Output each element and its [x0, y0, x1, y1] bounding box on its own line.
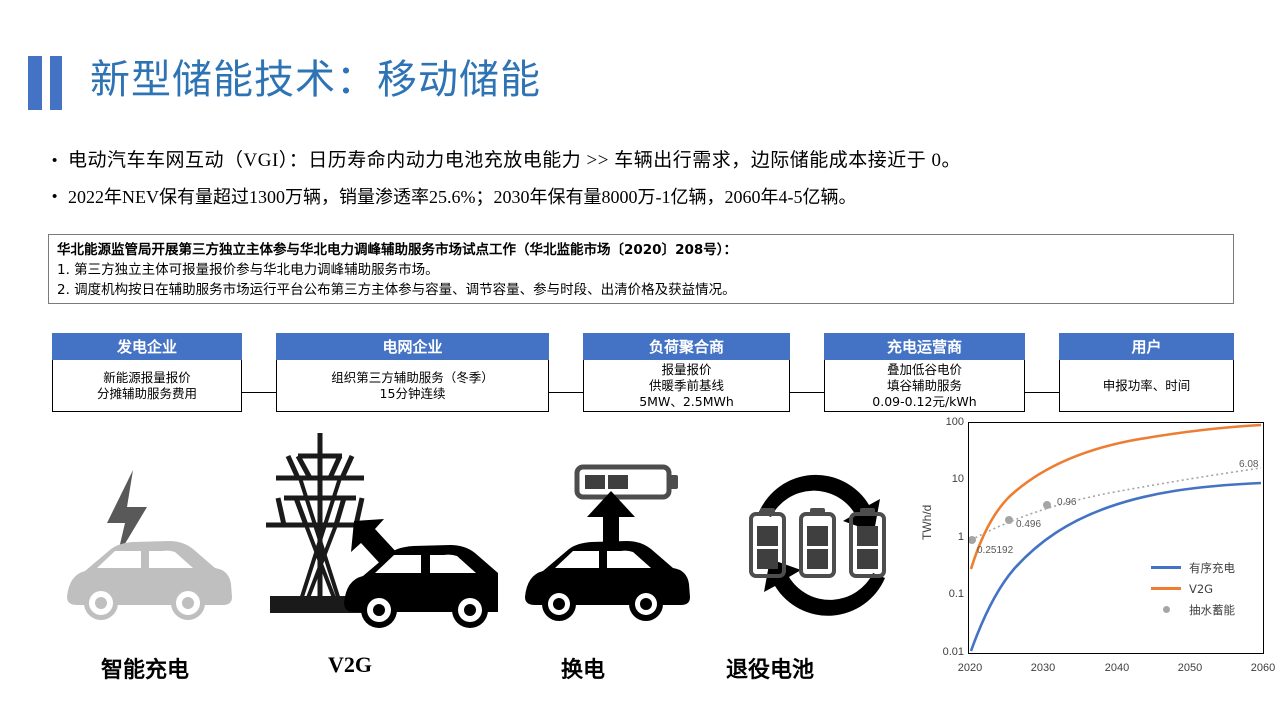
transmission-tower-icon	[266, 433, 374, 603]
flow-box-header: 发电企业	[52, 333, 242, 360]
flow-box-body: 新能源报量报价 分摊辅助服务费用	[52, 360, 242, 412]
bullet-marker-icon: •	[52, 184, 68, 210]
bullet-text: 电动汽车车网互动（VGI）：日历寿命内动力电池充放电能力 >> 车辆出行需求，边…	[68, 148, 961, 174]
legend-label: 有序充电	[1189, 560, 1235, 576]
flow-box-user[interactable]: 用户 申报功率、时间	[1059, 333, 1234, 412]
data-point-marker	[969, 536, 976, 544]
x-tick: 2060	[1241, 662, 1280, 674]
flow-connector	[790, 392, 824, 393]
flow-line: 报量报价	[586, 362, 787, 378]
illustration-row	[0, 425, 900, 655]
flow-line: 15分钟连续	[279, 386, 546, 402]
legend-item-v2g[interactable]: V2G	[1151, 578, 1271, 599]
retired-battery-icon	[735, 430, 915, 640]
title-accent-bars	[28, 56, 62, 110]
smart-charging-icon	[55, 445, 255, 635]
retired-battery-illustration	[735, 430, 915, 645]
caption-battery-swap: 换电	[523, 652, 643, 684]
policy-heading: 华北能源监管局开展第三方独立主体参与华北电力调峰辅助服务市场试点工作（华北监能市…	[57, 240, 1225, 260]
flow-box-header: 负荷聚合商	[583, 333, 790, 360]
battery-swap-illustration	[515, 445, 730, 640]
y-tick: 10	[928, 473, 964, 485]
flow-box-body: 报量报价 供暖季前基线 5MW、2.5MWh	[583, 360, 790, 412]
battery-indicator-icon	[577, 467, 678, 497]
flow-line: 组织第三方辅助服务（冬季）	[279, 370, 546, 386]
caption-v2g: V2G	[290, 652, 410, 678]
policy-item-2: 2. 调度机构按日在辅助服务市场运行平台公布第三方主体参与容量、调节容量、参与时…	[57, 280, 1225, 300]
process-flow: 发电企业 新能源报量报价 分摊辅助服务费用 电网企业 组织第三方辅助服务（冬季）…	[0, 333, 1280, 419]
bullet-list: • 电动汽车车网互动（VGI）：日历寿命内动力电池充放电能力 >> 车辆出行需求…	[52, 148, 1252, 220]
data-point-marker	[1005, 516, 1013, 524]
flow-line: 供暖季前基线	[586, 378, 787, 394]
bullet-text: 2022年NEV保有量超过1300万辆，销量渗透率25.6%；2030年保有量8…	[68, 184, 856, 210]
smart-charging-illustration	[55, 445, 255, 640]
v2g-icon	[248, 433, 498, 638]
legend-line-swatch	[1151, 587, 1181, 590]
flow-box-body: 叠加低谷电价 填谷辅助服务 0.09-0.12元/kWh	[824, 360, 1025, 412]
battery-cell-icon	[801, 508, 834, 576]
flow-line: 申报功率、时间	[1062, 378, 1231, 394]
bullet-marker-icon: •	[52, 148, 68, 174]
caption-smart-charging: 智能充电	[85, 652, 205, 684]
legend-item-ordered-charging[interactable]: 有序充电	[1151, 557, 1271, 578]
y-tick: 100	[928, 416, 964, 428]
illustration-captions: 智能充电 V2G 换电 退役电池	[0, 652, 900, 692]
flow-line: 叠加低谷电价	[827, 362, 1022, 378]
policy-callout-box: 华北能源监管局开展第三方独立主体参与华北电力调峰辅助服务市场试点工作（华北监能市…	[48, 234, 1234, 304]
flow-line: 0.09-0.12元/kWh	[827, 394, 1022, 410]
energy-capacity-chart: TWh/d 100 10 1 0.1 0.01 0.25192 0.49	[918, 418, 1280, 708]
flow-box-aggregator[interactable]: 负荷聚合商 报量报价 供暖季前基线 5MW、2.5MWh	[583, 333, 790, 412]
x-tick: 2050	[1168, 662, 1212, 674]
flow-box-header: 电网企业	[276, 333, 549, 360]
legend-item-pumped-hydro[interactable]: 抽水蓄能	[1151, 599, 1271, 620]
accent-bar-1	[28, 56, 42, 110]
series-v2g-line	[971, 425, 1261, 569]
bullet-item: • 电动汽车车网互动（VGI）：日历寿命内动力电池充放电能力 >> 车辆出行需求…	[52, 148, 1252, 174]
y-tick: 0.1	[928, 588, 964, 600]
flow-box-generation[interactable]: 发电企业 新能源报量报价 分摊辅助服务费用	[52, 333, 242, 412]
x-tick: 2020	[948, 662, 992, 674]
data-label-2025: 0.496	[1016, 519, 1041, 530]
data-label-2030: 0.96	[1057, 497, 1076, 508]
legend-dot-swatch	[1151, 606, 1181, 613]
flow-box-body: 组织第三方辅助服务（冬季） 15分钟连续	[276, 360, 549, 412]
policy-item-1: 1. 第三方独立主体可报量报价参与华北电力调峰辅助服务市场。	[57, 260, 1225, 280]
flow-line: 5MW、2.5MWh	[586, 394, 787, 410]
caption-retired-battery: 退役电池	[700, 652, 840, 684]
flow-connector	[242, 392, 276, 393]
flow-connector	[549, 392, 583, 393]
flow-line: 分摊辅助服务费用	[55, 386, 239, 402]
accent-bar-2	[50, 56, 62, 110]
chart-legend: 有序充电 V2G 抽水蓄能	[1151, 557, 1271, 620]
chart-y-ticks: 100 10 1 0.1 0.01	[918, 418, 964, 662]
bullet-item: • 2022年NEV保有量超过1300万辆，销量渗透率25.6%；2030年保有…	[52, 184, 1252, 210]
flow-line: 新能源报量报价	[55, 370, 239, 386]
chart-plot-area: 0.25192 0.496 0.96 6.08 有序充电 V2G 抽水蓄能	[968, 422, 1264, 654]
data-label-2020: 0.25192	[977, 545, 1013, 556]
legend-line-swatch	[1151, 566, 1181, 569]
v2g-illustration	[248, 433, 498, 643]
y-tick: 0.01	[928, 646, 964, 658]
legend-label: 抽水蓄能	[1189, 602, 1235, 618]
slide-canvas: 新型储能技术：移动储能 • 电动汽车车网互动（VGI）：日历寿命内动力电池充放电…	[0, 0, 1280, 720]
flow-box-header: 充电运营商	[824, 333, 1025, 360]
y-tick: 1	[928, 531, 964, 543]
data-point-marker	[1043, 501, 1051, 509]
flow-box-charging-operator[interactable]: 充电运营商 叠加低谷电价 填谷辅助服务 0.09-0.12元/kWh	[824, 333, 1025, 412]
battery-swap-icon	[515, 445, 730, 635]
flow-box-header: 用户	[1059, 333, 1234, 360]
x-tick: 2040	[1095, 662, 1139, 674]
flow-line: 填谷辅助服务	[827, 378, 1022, 394]
recycle-arrow-top-icon	[759, 475, 880, 532]
page-title: 新型储能技术：移动储能	[90, 50, 541, 110]
data-label-2060: 6.08	[1239, 459, 1258, 470]
flow-box-body: 申报功率、时间	[1059, 360, 1234, 412]
x-tick: 2030	[1021, 662, 1065, 674]
flow-box-grid[interactable]: 电网企业 组织第三方辅助服务（冬季） 15分钟连续	[276, 333, 549, 412]
flow-connector	[1025, 392, 1059, 393]
legend-label: V2G	[1189, 582, 1213, 596]
